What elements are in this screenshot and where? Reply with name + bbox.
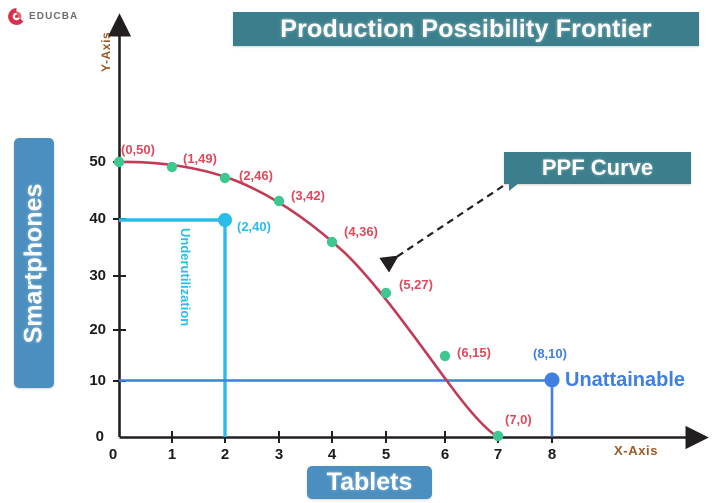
- unattainable-annotation: Unattainable: [565, 369, 685, 392]
- data-point-label: (1,49): [183, 151, 217, 166]
- data-point-label: (2,40): [237, 219, 271, 234]
- data-point-label: (5,27): [399, 277, 433, 292]
- data-point-label: (0,50): [121, 142, 155, 157]
- x-tick-label: 6: [435, 446, 455, 463]
- y-tick-label: 10: [80, 372, 106, 389]
- data-point-label: (3,42): [291, 188, 325, 203]
- data-point-label: (2,46): [239, 168, 273, 183]
- y-tick-label: 0: [78, 428, 104, 445]
- x-tick-label: 7: [488, 446, 508, 463]
- chart-canvas: EDUCBA Production Possibility Frontier Y…: [0, 0, 720, 503]
- x-tick-label: 0: [103, 446, 123, 463]
- data-point-label: (4,36): [344, 224, 378, 239]
- data-point-label: (7,0): [505, 412, 532, 427]
- y-tick-label: 40: [80, 210, 106, 227]
- y-tick-label: 50: [80, 153, 106, 170]
- callout-tail-icon: [509, 183, 519, 191]
- x-tick-label: 5: [376, 446, 396, 463]
- ppf-curve-callout-text: PPF Curve: [542, 155, 653, 181]
- ppf-curve-callout: PPF Curve: [504, 152, 691, 184]
- y-tick-label: 30: [80, 267, 106, 284]
- x-tick-label: 3: [269, 446, 289, 463]
- unattainable-point: [545, 373, 560, 388]
- y-tick-label: 20: [80, 321, 106, 338]
- x-tick-label: 8: [542, 446, 562, 463]
- data-point-label: (6,15): [457, 345, 491, 360]
- ppf-callout-arrow: [386, 186, 503, 264]
- data-point-label: (8,10): [533, 346, 567, 361]
- x-tick-label: 4: [322, 446, 342, 463]
- x-tick-label: 2: [215, 446, 235, 463]
- plot-area: [0, 0, 720, 503]
- underutilization-annotation: Underutilization: [178, 228, 193, 326]
- underutilization-point: [218, 213, 232, 227]
- underutilization-guides: [119, 220, 225, 437]
- x-tick-label: 1: [162, 446, 182, 463]
- ppf-curve-line: [119, 162, 498, 437]
